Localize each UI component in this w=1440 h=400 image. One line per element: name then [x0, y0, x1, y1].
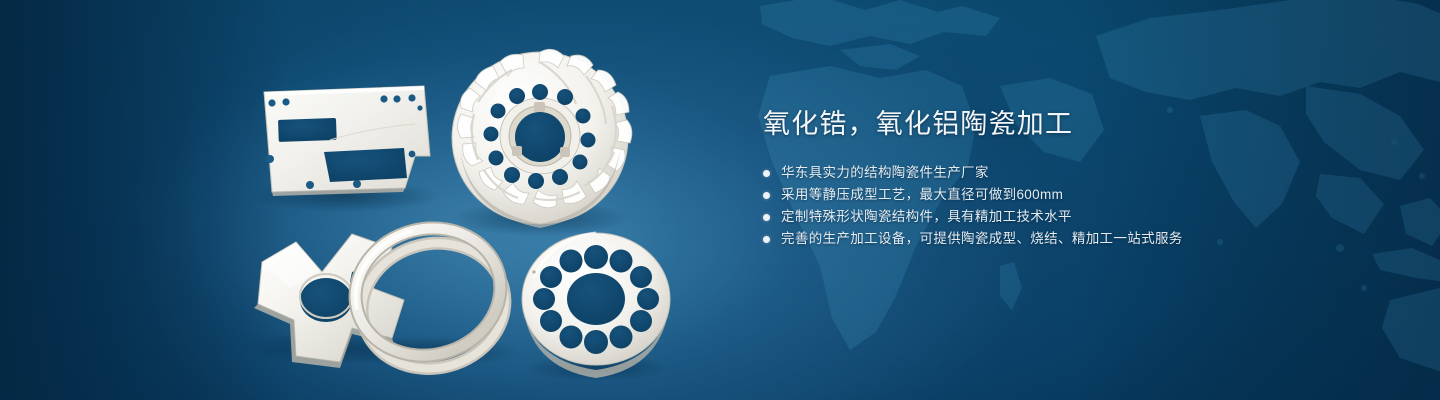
- ceramic-impeller-vane-disc: [452, 49, 632, 228]
- list-item: 定制特殊形状陶瓷结构件，具有精加工技术水平: [763, 206, 1383, 228]
- ceramic-machined-plate: [264, 86, 430, 196]
- list-item: 采用等静压成型工艺，最大直径可做到600mm: [763, 184, 1383, 206]
- filled-circle-bullet-icon: [763, 192, 770, 199]
- feature-text: 完善的生产加工设备，可提供陶瓷成型、烧结、精加工一站式服务: [781, 228, 1183, 250]
- filled-circle-bullet-icon: [763, 236, 770, 243]
- feature-list: 华东具实力的结构陶瓷件生产厂家 采用等静压成型工艺，最大直径可做到600mm 定…: [763, 162, 1383, 250]
- page-title: 氧化锆，氧化铝陶瓷加工: [763, 108, 1383, 140]
- filled-circle-bullet-icon: [763, 170, 770, 177]
- feature-text: 采用等静压成型工艺，最大直径可做到600mm: [781, 184, 1063, 206]
- hero-banner: 氧化锆，氧化铝陶瓷加工 华东具实力的结构陶瓷件生产厂家 采用等静压成型工艺，最大…: [0, 0, 1440, 400]
- banner-copy: 氧化锆，氧化铝陶瓷加工 华东具实力的结构陶瓷件生产厂家 采用等静压成型工艺，最大…: [763, 108, 1383, 250]
- ceramic-products-image: [0, 0, 740, 400]
- list-item: 完善的生产加工设备，可提供陶瓷成型、烧结、精加工一站式服务: [763, 228, 1383, 250]
- feature-text: 定制特殊形状陶瓷结构件，具有精加工技术水平: [781, 206, 1072, 228]
- list-item: 华东具实力的结构陶瓷件生产厂家: [763, 162, 1383, 184]
- ceramic-perforated-ring-disc: [522, 233, 670, 378]
- filled-circle-bullet-icon: [763, 214, 770, 221]
- feature-text: 华东具实力的结构陶瓷件生产厂家: [781, 162, 989, 184]
